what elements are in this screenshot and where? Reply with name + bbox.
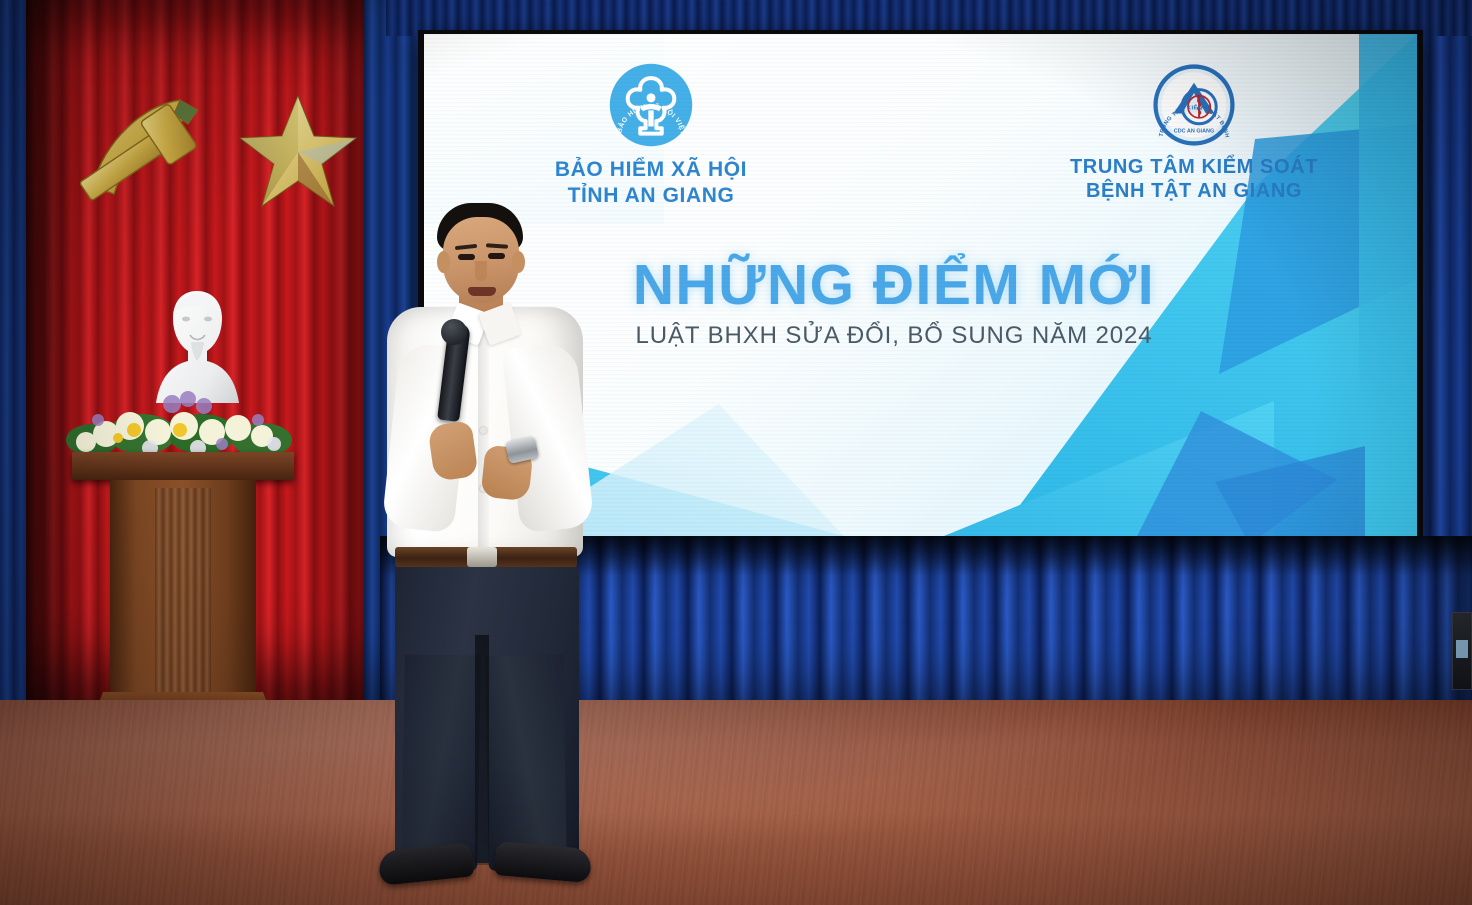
cdc-bottom-text: CDC AN GIANG — [1174, 128, 1214, 134]
eye-left — [458, 254, 475, 260]
hammer-and-sickle-emblem — [62, 84, 222, 219]
bhxh-line1: BẢO HIỂM XÃ HỘI — [486, 157, 816, 183]
org-block-cdc: TRUNG TÂM KIỂM SOÁT BỆNH TẬT CDC AN GIAN… — [1024, 64, 1364, 204]
podium-fluting — [155, 488, 211, 692]
cdc-an-giang-logo: TRUNG TÂM KIỂM SOÁT BỆNH TẬT CDC AN GIAN… — [1024, 64, 1364, 146]
ear-left — [437, 251, 450, 273]
presentation-scene-photo: BẢO HIỂM XÃ HỘI VIỆT NAM BẢO HIỂM XÃ HỘI… — [0, 0, 1472, 905]
ear-right — [512, 251, 525, 273]
shirt-placket — [478, 329, 489, 557]
belt-buckle — [467, 547, 497, 567]
trouser-leg-left — [401, 654, 481, 870]
cdc-line2: BỆNH TẬT AN GIANG — [1024, 179, 1364, 203]
gold-star-emblem — [236, 92, 360, 212]
podium-top — [72, 452, 294, 480]
eye-right — [488, 253, 505, 259]
org-block-bhxh: BẢO HIỂM XÃ HỘI VIỆT NAM BẢO HIỂM XÃ HỘI… — [486, 62, 816, 208]
cdc-line1: TRUNG TÂM KIỂM SOÁT — [1024, 155, 1364, 179]
trouser-leg-right — [485, 654, 567, 870]
nose — [475, 261, 487, 281]
slide-title: NHỮNG ĐIỂM MỚI — [544, 252, 1244, 318]
mouth — [468, 287, 496, 296]
bhxh-logo: BẢO HIỂM XÃ HỘI VIỆT NAM — [486, 62, 816, 148]
trouser-leg-gap — [475, 635, 489, 865]
slide-subtitle: LUẬT BHXH SỬA ĐỔI, BỔ SUNG NĂM 2024 — [544, 322, 1244, 350]
shirt-button-upper — [480, 427, 487, 434]
stage-floor-sheen — [0, 700, 1472, 905]
stage-monitor-screen — [1456, 640, 1468, 658]
speaker-person — [355, 195, 645, 875]
